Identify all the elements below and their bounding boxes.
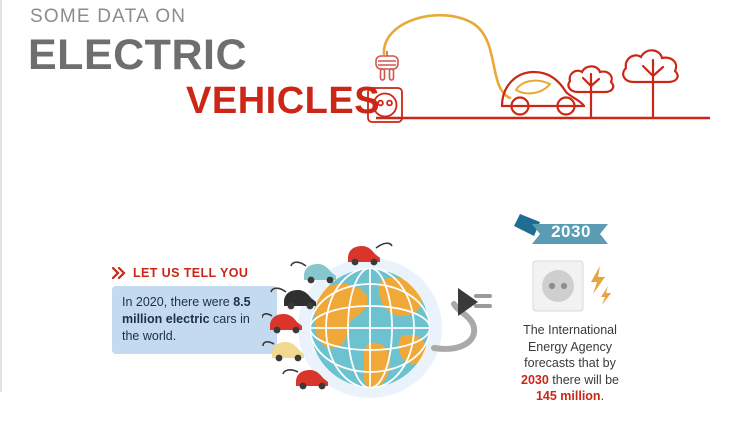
infographic-canvas: SOME DATA ON ELECTRIC VEHICLES [0,0,731,444]
electric-car-icon [502,72,584,115]
charging-cable [384,15,510,98]
eco-leaf-icon [516,81,550,94]
page-title-line1: ELECTRIC [28,34,247,77]
callout-panel: LET US TELL YOU In 2020, there were 8.5 … [112,266,277,354]
tree-icon [623,50,677,118]
socket-row [510,260,640,322]
forecast-line2: Energy Agency [528,340,612,354]
plug-head-icon [458,288,492,316]
forecast-line4-rest: there will be [549,373,619,387]
forecast-value-145m: 145 million [536,389,601,403]
callout-text-before: In 2020, there were [122,295,233,309]
callout-heading: LET US TELL YOU [112,266,277,280]
wall-socket-icon [532,260,584,312]
forecast-line5-rest: . [601,389,604,403]
forecast-line1: The International [523,323,617,337]
year-banner: 2030 [510,212,610,254]
globe-grid [310,268,430,388]
callout-box: In 2020, there were 8.5 million electric… [112,286,277,354]
globe-illustration [262,240,512,415]
lightning-bolt-icon [588,266,614,306]
forecast-line3: forecasts that by [524,356,616,370]
mini-car-red-mid [262,314,302,334]
forecast-panel: 2030 The International Energy Agency for… [500,212,640,405]
double-chevron-icon [112,267,128,279]
forecast-year-2030: 2030 [521,373,549,387]
banner-year-label: 2030 [540,222,602,242]
mini-car-cream [263,342,304,362]
tree-icon [568,66,613,118]
title-block: SOME DATA ON ELECTRIC VEHICLES [0,0,420,135]
mini-car-teal [291,262,336,283]
hero-illustration [370,2,731,132]
page-title-line2: VEHICLES [186,82,380,120]
kicker-text: SOME DATA ON [30,6,186,28]
forecast-text: The International Energy Agency forecast… [500,322,640,405]
callout-heading-label: LET US TELL YOU [133,266,248,280]
